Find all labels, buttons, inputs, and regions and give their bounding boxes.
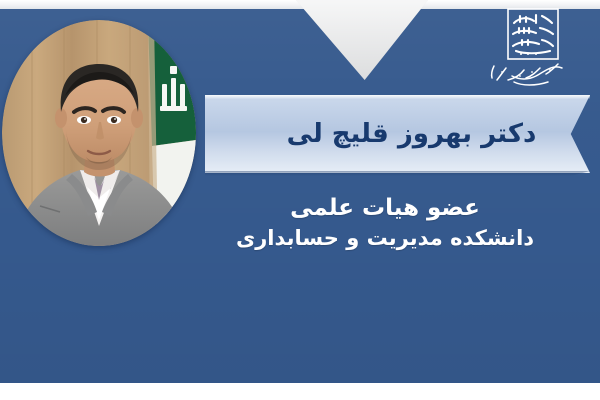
subtitle-line-2: دانشکده مدیریت و حسابداری bbox=[185, 224, 585, 253]
bottom-edge-strip bbox=[0, 383, 600, 400]
poster-image: دکتر بهروز قلیچ لی bbox=[0, 0, 600, 400]
subtitle-block: عضو هیات علمی دانشکده مدیریت و حسابداری bbox=[185, 193, 585, 253]
person-portrait-photo bbox=[2, 20, 196, 246]
shahid-beheshti-university-logo bbox=[476, 6, 588, 92]
subtitle-line-1: عضو هیات علمی bbox=[185, 193, 585, 224]
person-name: دکتر بهروز قلیچ لی bbox=[205, 95, 590, 173]
name-ribbon-banner: دکتر بهروز قلیچ لی bbox=[205, 95, 590, 173]
